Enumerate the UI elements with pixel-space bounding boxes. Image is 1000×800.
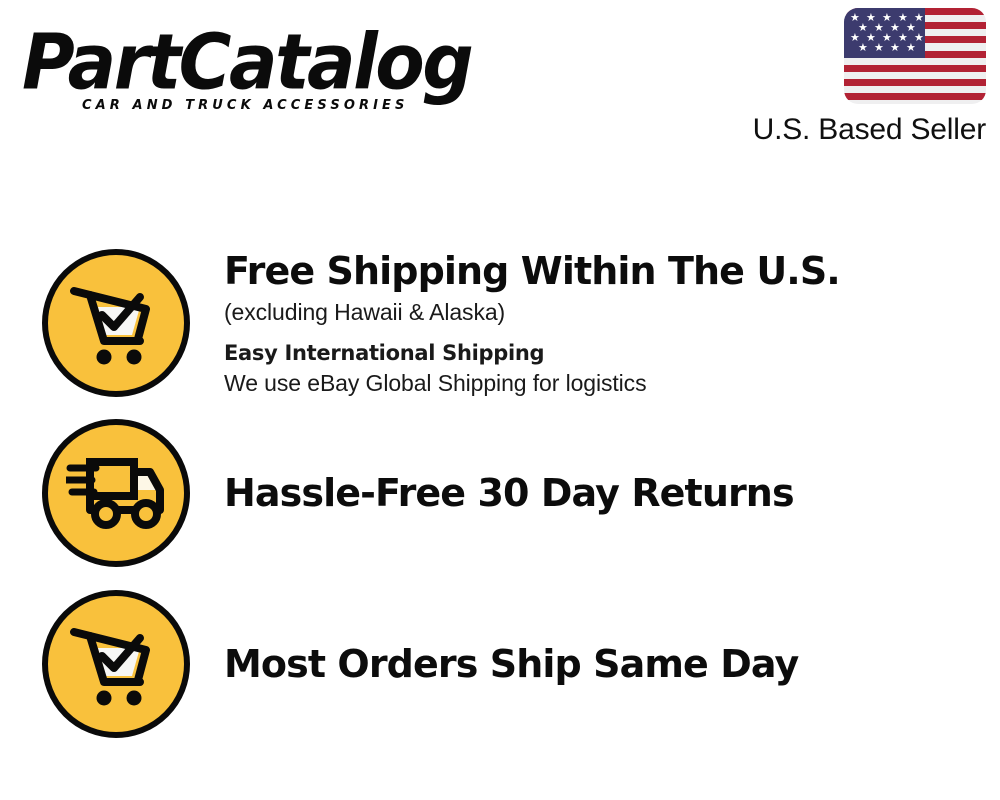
feature-row: Most Orders Ship Same Day (0, 588, 1000, 740)
shopping-cart-check-icon (42, 590, 190, 738)
feature-row: Free Shipping Within The U.S. (excluding… (0, 220, 1000, 425)
seller-label: U.S. Based Seller (726, 112, 986, 148)
feature-note: (excluding Hawaii & Alaska) (224, 296, 980, 328)
brand-wordmark: PartCatalog (22, 24, 492, 100)
us-flag-icon: ★ ★ ★ ★ ★ ★ ★ ★ ★ ★ ★ ★ ★ ★ ★ ★ ★ ★ (844, 8, 986, 104)
feature-row: Hassle-Free 30 Day Returns (0, 418, 1000, 568)
feature-headline: Hassle-Free 30 Day Returns (224, 470, 980, 516)
feature-headline: Free Shipping Within The U.S. (224, 248, 980, 294)
brand-logo[interactable]: PartCatalog CAR AND TRUCK ACCESSORIES (22, 24, 492, 120)
feature-sub-heading: Easy International Shipping (224, 338, 980, 368)
feature-text: Most Orders Ship Same Day (224, 641, 1000, 687)
feature-sub-text: We use eBay Global Shipping for logistic… (224, 368, 980, 398)
shopping-cart-check-icon (42, 249, 190, 397)
flag-canton: ★ ★ ★ ★ ★ ★ ★ ★ ★ ★ ★ ★ ★ ★ ★ ★ ★ ★ (844, 8, 925, 58)
feature-headline: Most Orders Ship Same Day (224, 641, 980, 687)
feature-text: Hassle-Free 30 Day Returns (224, 470, 1000, 516)
delivery-truck-icon (42, 419, 190, 567)
feature-text: Free Shipping Within The U.S. (excluding… (224, 248, 1000, 398)
us-based-seller-block: ★ ★ ★ ★ ★ ★ ★ ★ ★ ★ ★ ★ ★ ★ ★ ★ ★ ★ U.S.… (726, 8, 986, 148)
brand-tagline: CAR AND TRUCK ACCESSORIES (82, 98, 409, 113)
